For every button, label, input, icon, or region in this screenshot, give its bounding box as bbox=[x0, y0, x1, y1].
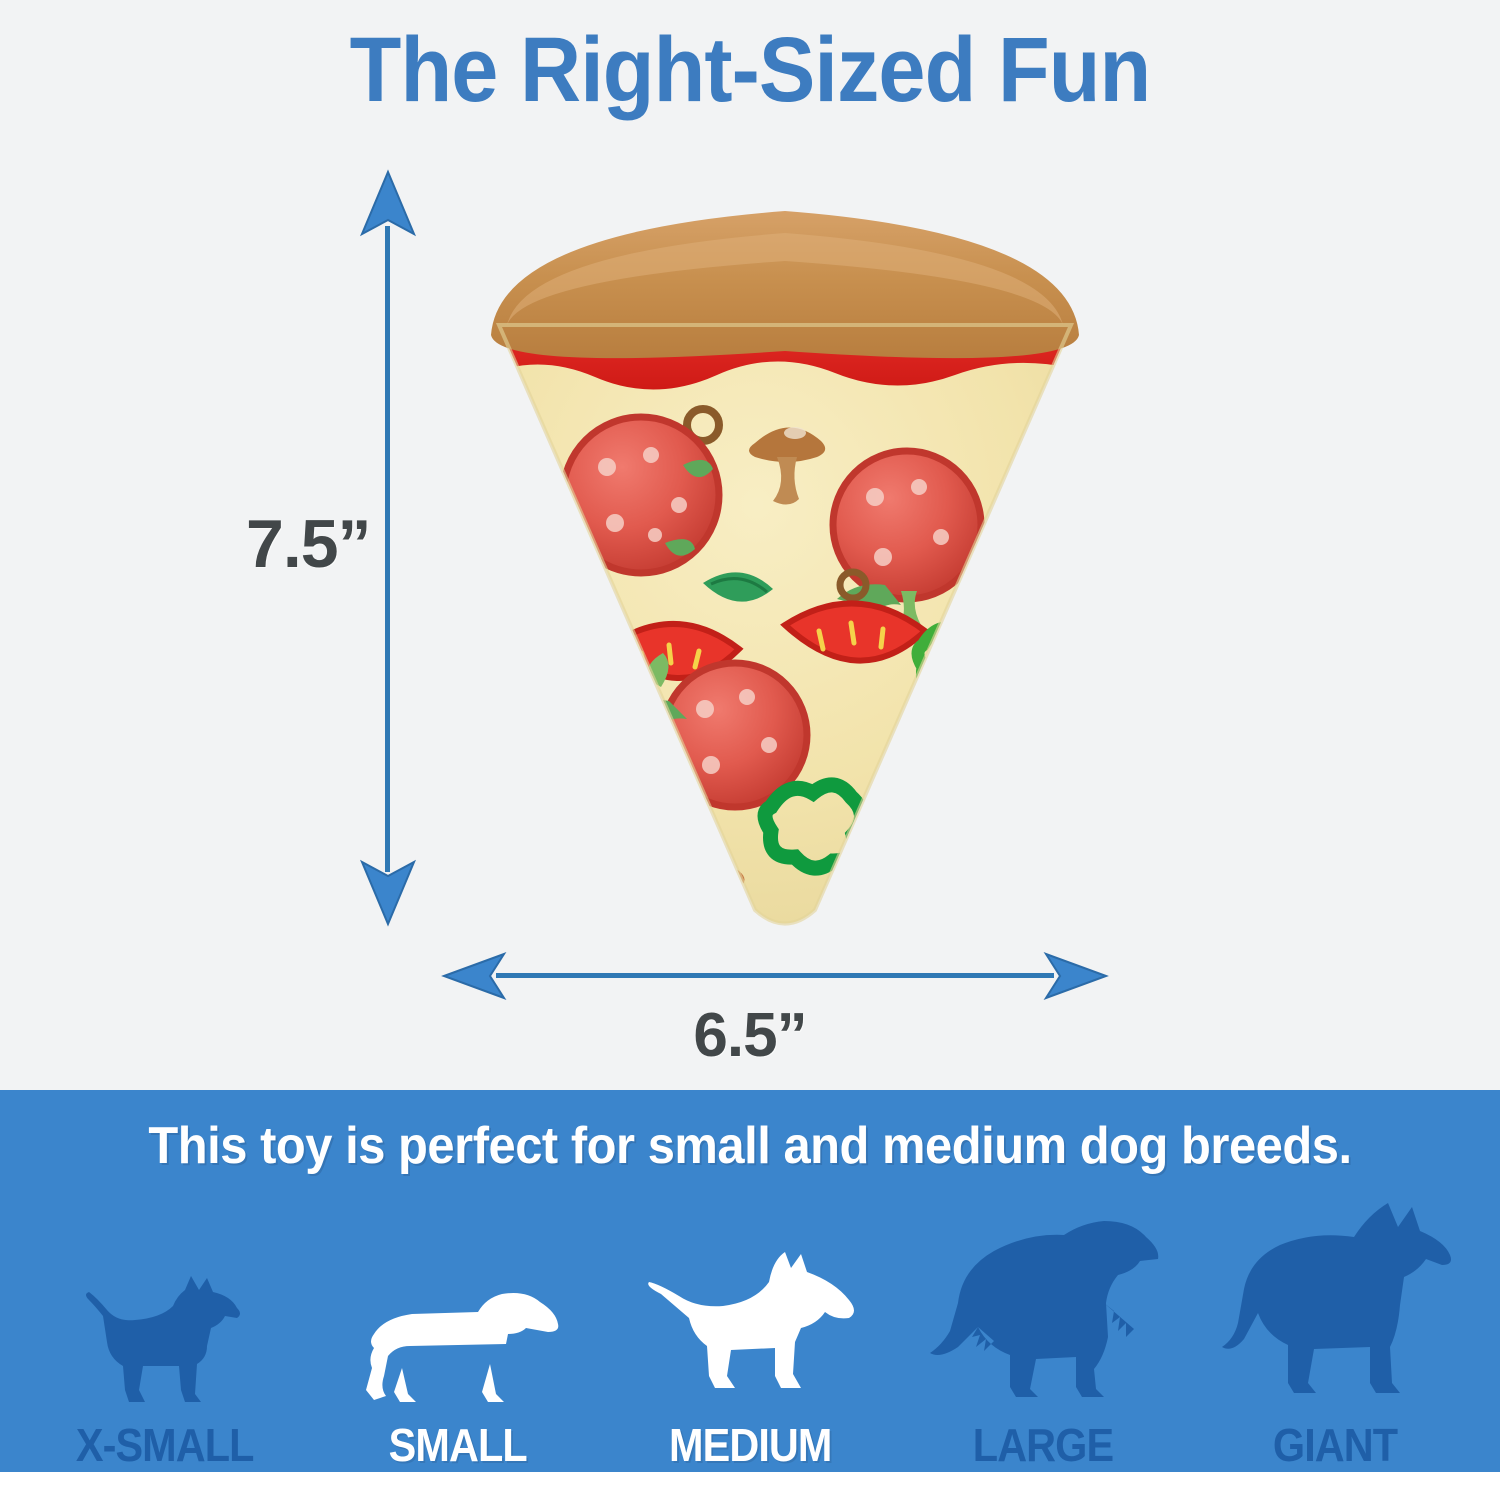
size-option-giant[interactable]: GIANT bbox=[1192, 1200, 1478, 1472]
plush-pizza-slice-toy bbox=[455, 175, 1115, 935]
chihuahua-silhouette-icon bbox=[65, 1200, 265, 1412]
width-dimension-label: 6.5” bbox=[0, 1000, 1500, 1071]
golden-retriever-silhouette-icon bbox=[918, 1200, 1168, 1412]
banner-headline: This toy is perfect for small and medium… bbox=[45, 1116, 1455, 1176]
pizza-slice-icon bbox=[455, 175, 1115, 935]
height-dimension-label: 7.5” bbox=[246, 505, 371, 583]
size-label-small: SMALL bbox=[388, 1418, 526, 1472]
size-label-medium: MEDIUM bbox=[669, 1418, 831, 1472]
size-label-giant: GIANT bbox=[1273, 1418, 1397, 1472]
bull-terrier-silhouette-icon bbox=[635, 1200, 865, 1412]
great-dane-silhouette-icon bbox=[1210, 1200, 1460, 1412]
horizontal-double-arrow bbox=[440, 950, 1110, 1002]
size-option-medium[interactable]: MEDIUM bbox=[607, 1200, 893, 1472]
horizontal-arrow-icon bbox=[440, 950, 1110, 1002]
pepperoni-topping bbox=[619, 653, 807, 807]
mushroom-topping bbox=[662, 857, 745, 906]
page-title: The Right-Sized Fun bbox=[60, 18, 1440, 123]
size-label-large: LARGE bbox=[972, 1418, 1112, 1472]
size-option-large[interactable]: LARGE bbox=[900, 1200, 1186, 1472]
olive-ring-topping bbox=[909, 781, 933, 805]
pepperoni-topping bbox=[563, 417, 719, 573]
olive-ring-topping bbox=[579, 711, 603, 735]
dog-size-scale: X-SMALL SMALL MEDIUM bbox=[0, 1186, 1500, 1472]
size-option-small[interactable]: SMALL bbox=[315, 1200, 601, 1472]
product-dimension-section: The Right-Sized Fun 7.5” 6.5” bbox=[0, 0, 1500, 1090]
size-option-x-small[interactable]: X-SMALL bbox=[22, 1200, 308, 1472]
size-label-x-small: X-SMALL bbox=[76, 1418, 254, 1472]
dachshund-silhouette-icon bbox=[350, 1200, 565, 1412]
infographic-page: The Right-Sized Fun 7.5” 6.5” bbox=[0, 0, 1500, 1500]
dog-size-banner: This toy is perfect for small and medium… bbox=[0, 1090, 1500, 1472]
green-bell-pepper-topping bbox=[918, 626, 1005, 701]
bottom-white-strip bbox=[0, 1472, 1500, 1500]
